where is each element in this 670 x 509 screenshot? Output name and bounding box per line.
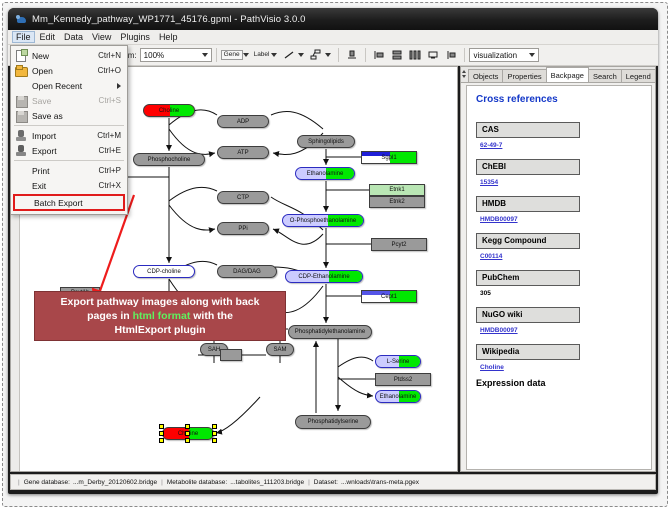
file-menu-label: Import (32, 131, 97, 141)
annotation-line-2a: pages in (87, 310, 133, 322)
pathway-node-phosphatidylethanolamine[interactable]: Phosphatidylethanolamine (288, 325, 372, 339)
tab-backpage[interactable]: Backpage (546, 67, 589, 82)
status-dataset-label: Dataset: (314, 479, 338, 486)
cross-reference-entry: NuGO wikiHMDB00097 (476, 304, 642, 334)
chevron-down-icon (202, 53, 208, 57)
file-menu-item-export[interactable]: ExportCtrl+E (11, 143, 127, 158)
node-label: ATP (237, 150, 248, 156)
file-menu-label: Open (32, 66, 98, 76)
file-menu-accelerator: Ctrl+X (99, 181, 127, 190)
menu-item-no-icon (14, 79, 28, 92)
node-label: CDP-Ethanolamine (298, 274, 349, 280)
file-menu-label: Batch Export (34, 198, 117, 208)
cross-reference-source: Wikipedia (476, 344, 580, 360)
pathway-node-etnk2[interactable]: Etnk2 (369, 196, 425, 208)
node-label: CTP (237, 195, 249, 201)
align-left-icon[interactable] (371, 48, 387, 63)
cross-reference-source: HMDB (476, 196, 580, 212)
status-divider-2: | (304, 479, 314, 486)
cross-reference-id[interactable]: C00114 (476, 249, 642, 260)
side-panel: Objects Properties Backpage Search Legen… (460, 66, 656, 472)
zoom-combobox[interactable]: 100% (140, 48, 212, 62)
cross-reference-id[interactable]: HMDB00097 (476, 212, 642, 223)
cross-reference-entry: Kegg CompoundC00114 (476, 230, 642, 260)
status-metabolite-db-value: ...tabolites_111203.bridge (227, 479, 304, 486)
pathway-node-phosphatidylserine[interactable]: Phosphatidylserine (295, 415, 371, 429)
file-menu-label: Save as (32, 111, 121, 121)
line-dropdown-icon[interactable] (298, 53, 304, 57)
file-menu-item-save: SaveCtrl+S (11, 93, 127, 108)
file-menu-accelerator: Ctrl+P (99, 166, 127, 175)
cross-reference-source: Kegg Compound (476, 233, 580, 249)
resize-handle[interactable] (212, 431, 217, 436)
cross-reference-id[interactable]: HMDB00097 (476, 323, 642, 334)
file-menu-item-new[interactable]: NewCtrl+N (11, 48, 127, 63)
pathway-node-sam-right[interactable]: SAM (266, 343, 294, 356)
node-label: DAG/DAG (233, 269, 261, 275)
tab-search[interactable]: Search (588, 69, 622, 82)
pathway-node-ethanolamine-right[interactable]: Ethanolamine (375, 390, 421, 403)
interaction-tool-icon[interactable] (308, 48, 324, 63)
status-divider-0: | (14, 479, 24, 486)
cross-reference-entry: WikipediaCholine (476, 341, 642, 371)
save-as-icon (14, 109, 28, 122)
status-gene-db-value: ...m_Derby_20120602.bridge (70, 479, 157, 486)
menu-item-no-icon (14, 179, 28, 192)
title-bar: Mm_Kennedy_pathway_WP1771_45176.gpml - P… (8, 8, 658, 30)
pathway-node-o-phosphoethanolamine[interactable]: O-Phosphoethanolamine (282, 214, 364, 227)
menu-item-no-icon (16, 196, 30, 209)
expression-data-heading: Expression data (476, 378, 642, 388)
cross-reference-source: CAS (476, 122, 580, 138)
screenshot-root: Mm_Kennedy_pathway_WP1771_45176.gpml - P… (0, 0, 670, 509)
tab-scroll-icon[interactable] (462, 69, 467, 80)
menu-edit[interactable]: Edit (36, 31, 60, 43)
menu-separator (14, 160, 124, 161)
tab-legend[interactable]: Legend (621, 69, 656, 82)
file-menu-item-print[interactable]: PrintCtrl+P (11, 163, 127, 178)
file-menu-label: New (32, 51, 98, 61)
file-menu-label: Save (32, 96, 99, 106)
pathway-node-cept1[interactable]: Cept1 (361, 290, 417, 303)
tab-properties[interactable]: Properties (502, 69, 546, 82)
backpage-content: Cross references CAS62-49-7ChEBI15354HMD… (466, 85, 652, 470)
node-label: Ethanolamine (307, 171, 344, 177)
pathway-node-atp[interactable]: ATP (217, 146, 269, 159)
status-dataset-value: ...wnloads\trans-meta.pgex (338, 479, 419, 486)
window-title: Mm_Kennedy_pathway_WP1771_45176.gpml - P… (32, 14, 306, 25)
stack-vertical-icon[interactable] (389, 48, 405, 63)
cross-reference-entry: ChEBI15354 (476, 156, 642, 186)
cross-reference-list: CAS62-49-7ChEBI15354HMDBHMDB00097Kegg Co… (476, 119, 642, 371)
node-label: Sgpl1 (381, 155, 396, 161)
interaction-dropdown-icon[interactable] (325, 53, 331, 57)
node-label: ADP (237, 119, 249, 125)
label-dropdown-icon[interactable] (271, 53, 277, 57)
file-menu-accelerator: Ctrl+O (98, 66, 127, 75)
pathway-node-ppi[interactable]: PPi (217, 222, 269, 235)
cross-reference-entry: PubChem305 (476, 267, 642, 297)
menu-view[interactable]: View (88, 31, 115, 43)
resize-handle[interactable] (159, 438, 164, 443)
menu-separator (14, 125, 124, 126)
cross-reference-entry: CAS62-49-7 (476, 119, 642, 149)
cross-reference-id[interactable]: Choline (476, 360, 642, 371)
tab-objects[interactable]: Objects (468, 69, 503, 82)
node-label: SAM (273, 347, 286, 353)
file-menu-item-exit[interactable]: ExitCtrl+X (11, 178, 127, 193)
zoom-value: 100% (144, 51, 164, 60)
toolbar-divider-3 (365, 48, 366, 62)
annotation-line-2b: with the (190, 310, 233, 322)
visualization-combobox[interactable]: visualization (469, 48, 539, 62)
pathway-node-sgpl1[interactable]: Sgpl1 (361, 151, 417, 164)
node-label: Phosphatidylserine (308, 419, 359, 425)
node-label: Etnk2 (389, 199, 404, 205)
pathway-node-adp[interactable]: ADP (217, 115, 269, 128)
toolbar-divider-4 (464, 48, 465, 62)
node-label: L-Serine (387, 359, 410, 365)
node-label: Ethanolamine (380, 394, 417, 400)
pathway-node-ethanolamine-top[interactable]: Ethanolamine (295, 167, 355, 180)
file-menu-label: Print (32, 166, 99, 176)
file-menu-item-import[interactable]: ImportCtrl+M (11, 128, 127, 143)
node-label: Choline (159, 108, 179, 114)
file-menu-accelerator: Ctrl+N (98, 51, 127, 60)
node-label: Phosphocholine (148, 157, 191, 163)
cross-reference-id[interactable]: 15354 (476, 175, 642, 186)
cross-reference-source: NuGO wiki (476, 307, 580, 323)
menu-item-no-icon (14, 164, 28, 177)
toolbar-divider (216, 48, 217, 62)
resize-handle[interactable] (212, 424, 217, 429)
pathway-node-etnk1[interactable]: Etnk1 (369, 184, 425, 196)
chevron-down-icon-2 (529, 53, 535, 57)
node-label: Cept1 (381, 294, 397, 300)
side-panel-tabstrip: Objects Properties Backpage Search Legen… (461, 67, 655, 83)
pathway-node-choline-top[interactable]: Choline (143, 104, 195, 117)
menu-file[interactable]: File (12, 31, 35, 43)
label-icon[interactable]: Label (252, 51, 272, 60)
file-menu-label: Exit (32, 181, 99, 191)
visualization-value: visualization (473, 51, 517, 60)
file-menu-item-open[interactable]: OpenCtrl+O (11, 63, 127, 78)
menu-data[interactable]: Data (60, 31, 87, 43)
status-divider-1: | (157, 479, 167, 486)
menu-bar: File Edit Data View Plugins Help (8, 30, 658, 45)
file-menu-label: Export (32, 146, 99, 156)
pathvisio-app-icon (16, 14, 27, 25)
pathway-node-pcyt2[interactable]: Pcyt2 (371, 238, 427, 251)
annotation-highlight: html format (133, 310, 191, 322)
resize-handle[interactable] (212, 438, 217, 443)
file-menu-label: Open Recent (32, 81, 117, 91)
group-icon[interactable] (425, 48, 441, 63)
export-icon (14, 144, 28, 157)
cross-references-title: Cross references (476, 94, 642, 105)
file-menu-accelerator: Ctrl+E (99, 146, 127, 155)
file-menu-popup[interactable]: NewCtrl+NOpenCtrl+OOpen RecentSaveCtrl+S… (10, 45, 128, 215)
file-menu-accelerator: Ctrl+M (97, 131, 127, 140)
node-label: Ptdss2 (394, 377, 412, 383)
status-gene-db-label: Gene database: (24, 479, 70, 486)
order-icon[interactable] (443, 48, 459, 63)
pathway-node-ptdss2[interactable]: Ptdss2 (375, 373, 431, 386)
resize-handle[interactable] (159, 431, 164, 436)
pathway-node-cdp-choline[interactable]: CDP-choline (133, 265, 195, 278)
resize-handle[interactable] (185, 438, 190, 443)
gene-dropdown-icon[interactable] (243, 53, 249, 57)
annotation-line-1: Export pathway images along with back (41, 295, 279, 309)
file-menu-accelerator: Ctrl+S (99, 96, 127, 105)
pathway-node-dag-dag[interactable]: DAG/DAG (217, 265, 277, 278)
node-label: Sphingolipids (308, 139, 344, 145)
file-menu-item-save-as[interactable]: Save as (11, 108, 127, 123)
align-top-icon[interactable] (344, 48, 360, 63)
resize-handle[interactable] (159, 424, 164, 429)
import-icon (14, 129, 28, 142)
resize-handle[interactable] (185, 431, 190, 436)
file-menu-item-batch-export[interactable]: Batch Export (13, 194, 125, 211)
submenu-arrow-icon (117, 83, 121, 89)
pathway-node-cdp-ethanolamine[interactable]: CDP-Ethanolamine (285, 270, 363, 283)
cross-reference-source: PubChem (476, 270, 580, 286)
open-folder-icon (14, 64, 28, 77)
node-label: Phosphatidylethanolamine (295, 329, 365, 335)
cross-reference-entry: HMDBHMDB00097 (476, 193, 642, 223)
cross-reference-source: ChEBI (476, 159, 580, 175)
pathway-node-sphingolipids[interactable]: Sphingolipids (297, 135, 355, 148)
pathway-node-chka-chkb[interactable] (220, 349, 242, 361)
node-label: Etnk1 (389, 187, 404, 193)
node-label: SAH (208, 347, 220, 353)
distribute-icon[interactable] (407, 48, 423, 63)
pathway-node-ctp[interactable]: CTP (217, 191, 269, 204)
pathvisio-window: Mm_Kennedy_pathway_WP1771_45176.gpml - P… (8, 8, 658, 494)
toolbar-divider-2 (338, 48, 339, 62)
cross-reference-id: 305 (476, 286, 642, 297)
menu-plugins[interactable]: Plugins (116, 31, 154, 43)
new-document-icon (14, 49, 28, 62)
pathway-node-phosphocholine[interactable]: Phosphocholine (133, 153, 205, 166)
node-label: CDP-choline (147, 269, 181, 275)
status-metabolite-db-label: Metabolite database: (167, 479, 227, 486)
node-label: O-Phosphoethanolamine (290, 218, 356, 224)
status-bar: | Gene database: ...m_Derby_20120602.bri… (10, 474, 656, 490)
cross-reference-id[interactable]: 62-49-7 (476, 138, 642, 149)
menu-help[interactable]: Help (155, 31, 182, 43)
file-menu-item-open-recent[interactable]: Open Recent (11, 78, 127, 93)
annotation-callout: Export pathway images along with back pa… (34, 291, 286, 341)
node-label: PPi (238, 226, 247, 232)
save-disk-icon (14, 94, 28, 107)
line-tool-icon[interactable] (281, 48, 297, 63)
gene-product-icon[interactable]: Gene (221, 50, 243, 61)
annotation-line-2: pages in html format with the (41, 309, 279, 323)
annotation-line-3: HtmlExport plugin (41, 323, 279, 337)
node-label: Pcyt2 (391, 242, 406, 248)
pathway-node-l-serine[interactable]: L-Serine (375, 355, 421, 368)
resize-handle[interactable] (185, 424, 190, 429)
